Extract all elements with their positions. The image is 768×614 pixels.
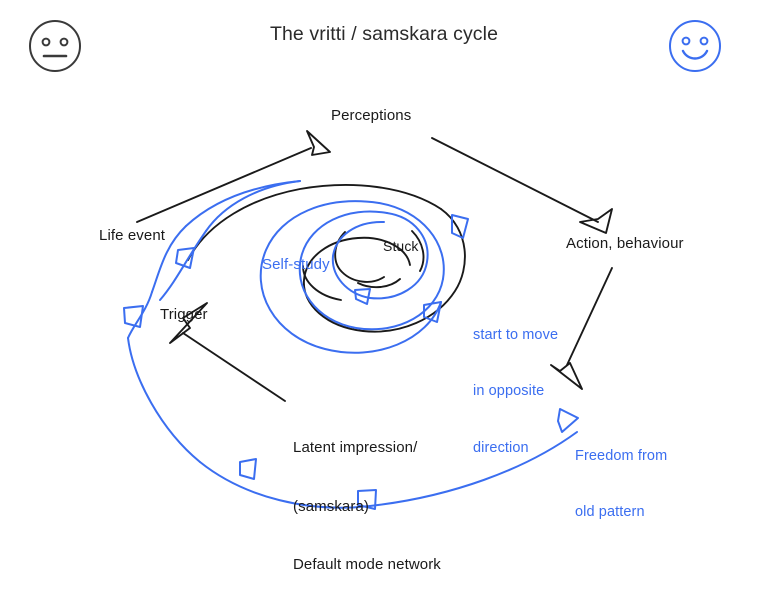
blue-spiral-arrowheads	[355, 215, 468, 322]
node-label-perceptions: Perceptions	[331, 106, 411, 126]
latent-line-3: Default mode network	[293, 555, 441, 575]
freedom-line-2: old pattern	[575, 503, 667, 522]
start-move-line-2: in opposite	[473, 382, 558, 401]
freedom-line-1: Freedom from	[575, 447, 667, 466]
node-label-latent-impression: Latent impression/ (samskara) Default mo…	[293, 399, 441, 614]
start-move-line-3: direction	[473, 439, 558, 458]
node-label-life-event: Life event	[99, 226, 165, 246]
diagram-canvas: The vritti / samskara cycle Perceptions …	[0, 0, 768, 576]
blue-label-start-to-move: start to move in opposite direction	[473, 288, 558, 495]
blue-label-freedom-from-old-pattern: Freedom from old pattern	[575, 409, 667, 560]
page-title: The vritti / samskara cycle	[0, 22, 768, 47]
blue-label-self-study: Self-study	[262, 255, 330, 275]
center-label-stuck: Stuck	[383, 237, 419, 255]
start-move-line-1: start to move	[473, 326, 558, 345]
node-label-action-behaviour: Action, behaviour	[566, 234, 684, 254]
node-label-trigger: Trigger	[160, 305, 208, 325]
latent-line-1: Latent impression/	[293, 438, 441, 458]
latent-line-2: (samskara)	[293, 497, 441, 517]
